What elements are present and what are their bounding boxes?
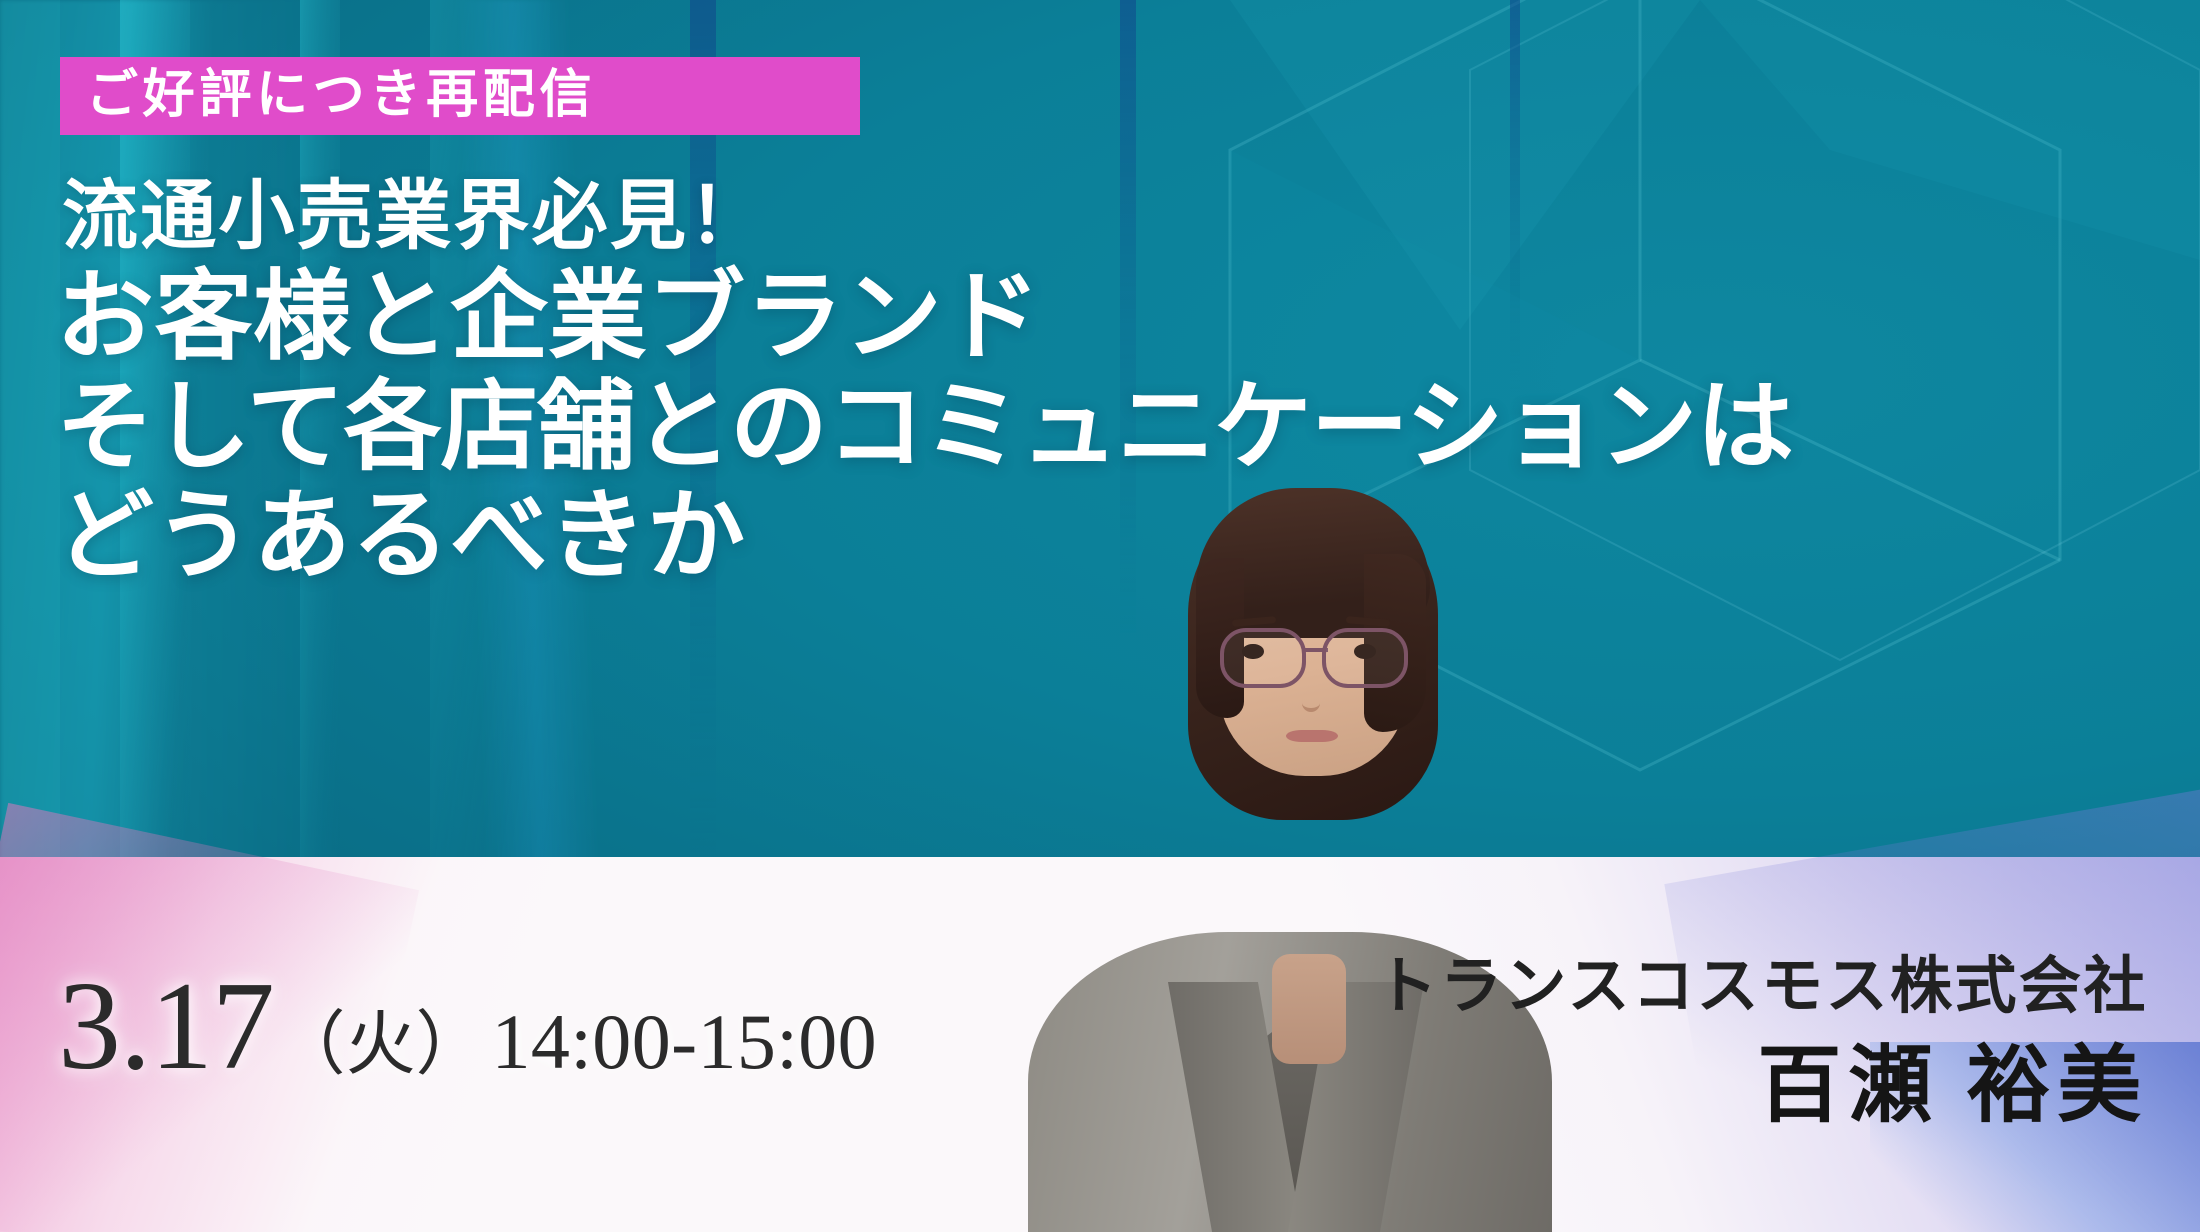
schedule-date: 3.17 [58,964,273,1090]
portrait-nose [1302,682,1320,712]
webinar-banner: ご好評につき再配信 流通小売業界必見！ お客様と企業ブランド そして各店舗とのコ… [0,0,2200,1232]
speaker-name: 百瀬 裕美 [1375,1039,2148,1136]
portrait-hair-front [1196,488,1430,638]
glasses-lens-right [1322,628,1408,688]
portrait-neck [1272,954,1346,1064]
schedule-block: 3.17 （火） 14:00-15:00 [58,964,877,1090]
glasses-lens-left [1220,628,1306,688]
glasses-icon [1218,628,1410,682]
portrait-mouth [1286,730,1338,742]
schedule-time: 14:00-15:00 [491,1003,877,1081]
speaker-block: トランスコスモス株式会社 百瀬 裕美 [1375,953,2148,1136]
schedule-day-of-week: （火） [275,1011,485,1081]
title-kicker: 流通小売業界必見！ [62,178,2146,258]
speaker-company: トランスコスモス株式会社 [1375,953,2148,1021]
rebroadcast-badge: ご好評につき再配信 [60,57,860,135]
rebroadcast-badge-label: ご好評につき再配信 [86,70,596,122]
title-line-1: お客様と企業ブランド [56,264,2146,374]
